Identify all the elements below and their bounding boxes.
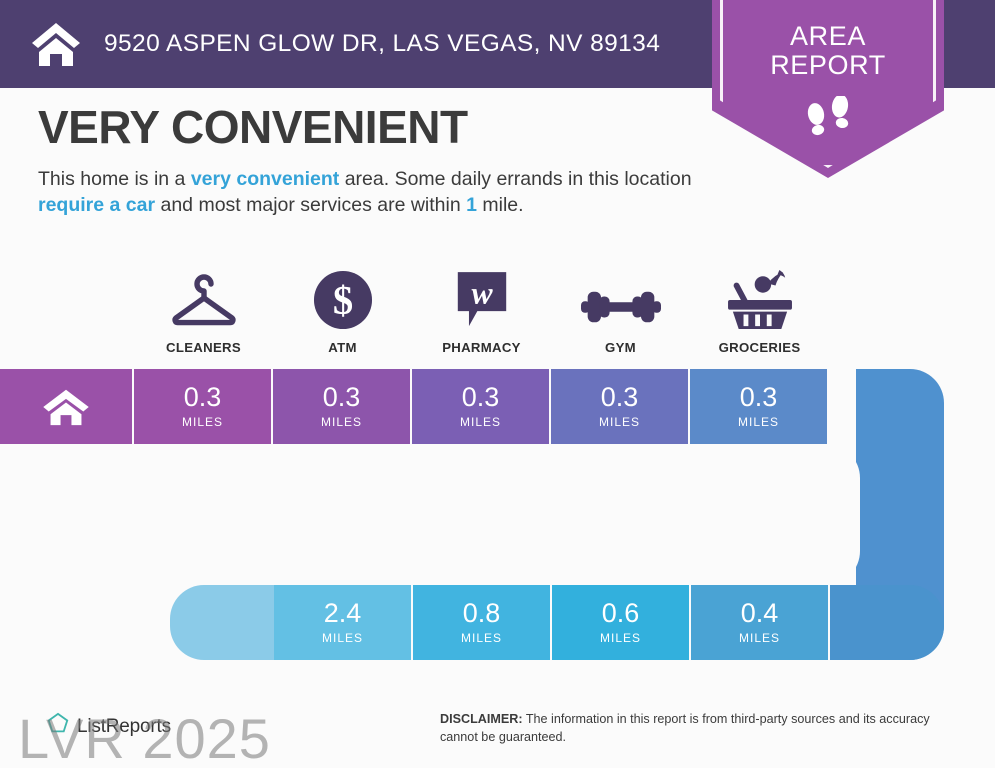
distance-unit: MILES [738, 415, 779, 429]
distance-cell-gym: 0.3 MILES [551, 369, 690, 444]
desc-highlight-1: very convenient [191, 168, 339, 190]
area-report-badge: AREA REPORT [712, 0, 944, 178]
desc-text-3: and most major services are within [155, 194, 466, 216]
property-address: 9520 ASPEN GLOW DR, LAS VEGAS, NV 89134 [104, 30, 660, 58]
distance-bar-row-2: 2.4 MILES 0.8 MILES 0.6 MILES 0.4 MILES [274, 585, 830, 660]
distance-value: 0.6 [602, 600, 640, 627]
distance-value: 0.3 [740, 384, 778, 411]
distance-cell-medical: 0.4 MILES [691, 585, 830, 660]
hero-description: This home is in a very convenient area. … [38, 166, 738, 219]
distance-unit: MILES [461, 631, 502, 645]
distance-unit: MILES [460, 415, 501, 429]
desc-text-2: area. Some daily errands in this locatio… [339, 168, 691, 190]
home-icon [41, 387, 91, 427]
home-marker-cell [0, 369, 134, 444]
distance-unit: MILES [182, 415, 223, 429]
amenity-label: GYM [605, 340, 636, 355]
distance-unit: MILES [321, 415, 362, 429]
distance-value: 0.3 [323, 384, 361, 411]
amenity-label: CLEANERS [166, 340, 241, 355]
distance-cell-cleaners: 0.3 MILES [134, 369, 273, 444]
watermark: LVR 2025 [18, 706, 271, 768]
dollar-circle-icon: $ [313, 262, 373, 330]
distance-cell-groceries: 0.3 MILES [690, 369, 829, 444]
ribbon-tail-bottom [830, 585, 944, 660]
amenity-pharmacy: w PHARMACY [412, 262, 551, 355]
amenity-label: ATM [328, 340, 357, 355]
disclaimer-label: DISCLAIMER: [440, 712, 523, 726]
basket-icon [726, 262, 794, 330]
area-report-page: 9520 ASPEN GLOW DR, LAS VEGAS, NV 89134 … [0, 0, 995, 768]
amenity-groceries: GROCERIES [690, 262, 829, 355]
badge-title: AREA REPORT [712, 22, 944, 79]
amenity-cleaners: CLEANERS [134, 262, 273, 355]
hanger-icon [168, 262, 240, 330]
badge-title-line1: AREA [712, 22, 944, 51]
disclaimer: DISCLAIMER: The information in this repo… [440, 710, 960, 747]
svg-text:w: w [471, 276, 493, 311]
distance-value: 0.3 [462, 384, 500, 411]
distance-cell-pharmacy: 0.3 MILES [412, 369, 551, 444]
distance-cell-atm: 0.3 MILES [273, 369, 412, 444]
distance-value: 0.3 [184, 384, 222, 411]
header-content: 9520 ASPEN GLOW DR, LAS VEGAS, NV 89134 [30, 0, 660, 88]
page-title: VERY CONVENIENT [38, 104, 738, 150]
home-icon [30, 21, 82, 67]
amenity-label: GROCERIES [719, 340, 801, 355]
desc-text-4: mile. [477, 194, 524, 216]
distance-unit: MILES [739, 631, 780, 645]
pharmacy-w-icon: w [455, 262, 509, 330]
footprints-icon [712, 96, 944, 147]
distance-cell-coffee: 0.6 MILES [552, 585, 691, 660]
desc-text-1: This home is in a [38, 168, 191, 190]
distance-value: 0.3 [601, 384, 639, 411]
distance-value: 2.4 [324, 600, 362, 627]
desc-highlight-3: 1 [466, 194, 477, 216]
distance-cell-gas: 0.8 MILES [413, 585, 552, 660]
desc-highlight-2: require a car [38, 194, 155, 216]
distance-unit: MILES [599, 415, 640, 429]
svg-text:$: $ [332, 278, 352, 323]
dumbbell-icon [581, 262, 661, 330]
distance-value: 0.4 [741, 600, 779, 627]
distance-bar-row-1: 0.3 MILES 0.3 MILES 0.3 MILES 0.3 MILES … [0, 369, 829, 444]
distance-unit: MILES [322, 631, 363, 645]
ribbon-notch-top [0, 444, 860, 585]
amenity-gym: GYM [551, 262, 690, 355]
distance-cell-movie-theater: 2.4 MILES [274, 585, 413, 660]
amenity-icon-row-1: CLEANERS $ ATM w PHARMACY [134, 262, 829, 355]
distance-value: 0.8 [463, 600, 501, 627]
hero-section: VERY CONVENIENT This home is in a very c… [38, 104, 738, 219]
amenity-atm: $ ATM [273, 262, 412, 355]
badge-title-line2: REPORT [712, 51, 944, 80]
ribbon-elbow-left [170, 585, 280, 660]
amenity-label: PHARMACY [442, 340, 521, 355]
distance-unit: MILES [600, 631, 641, 645]
